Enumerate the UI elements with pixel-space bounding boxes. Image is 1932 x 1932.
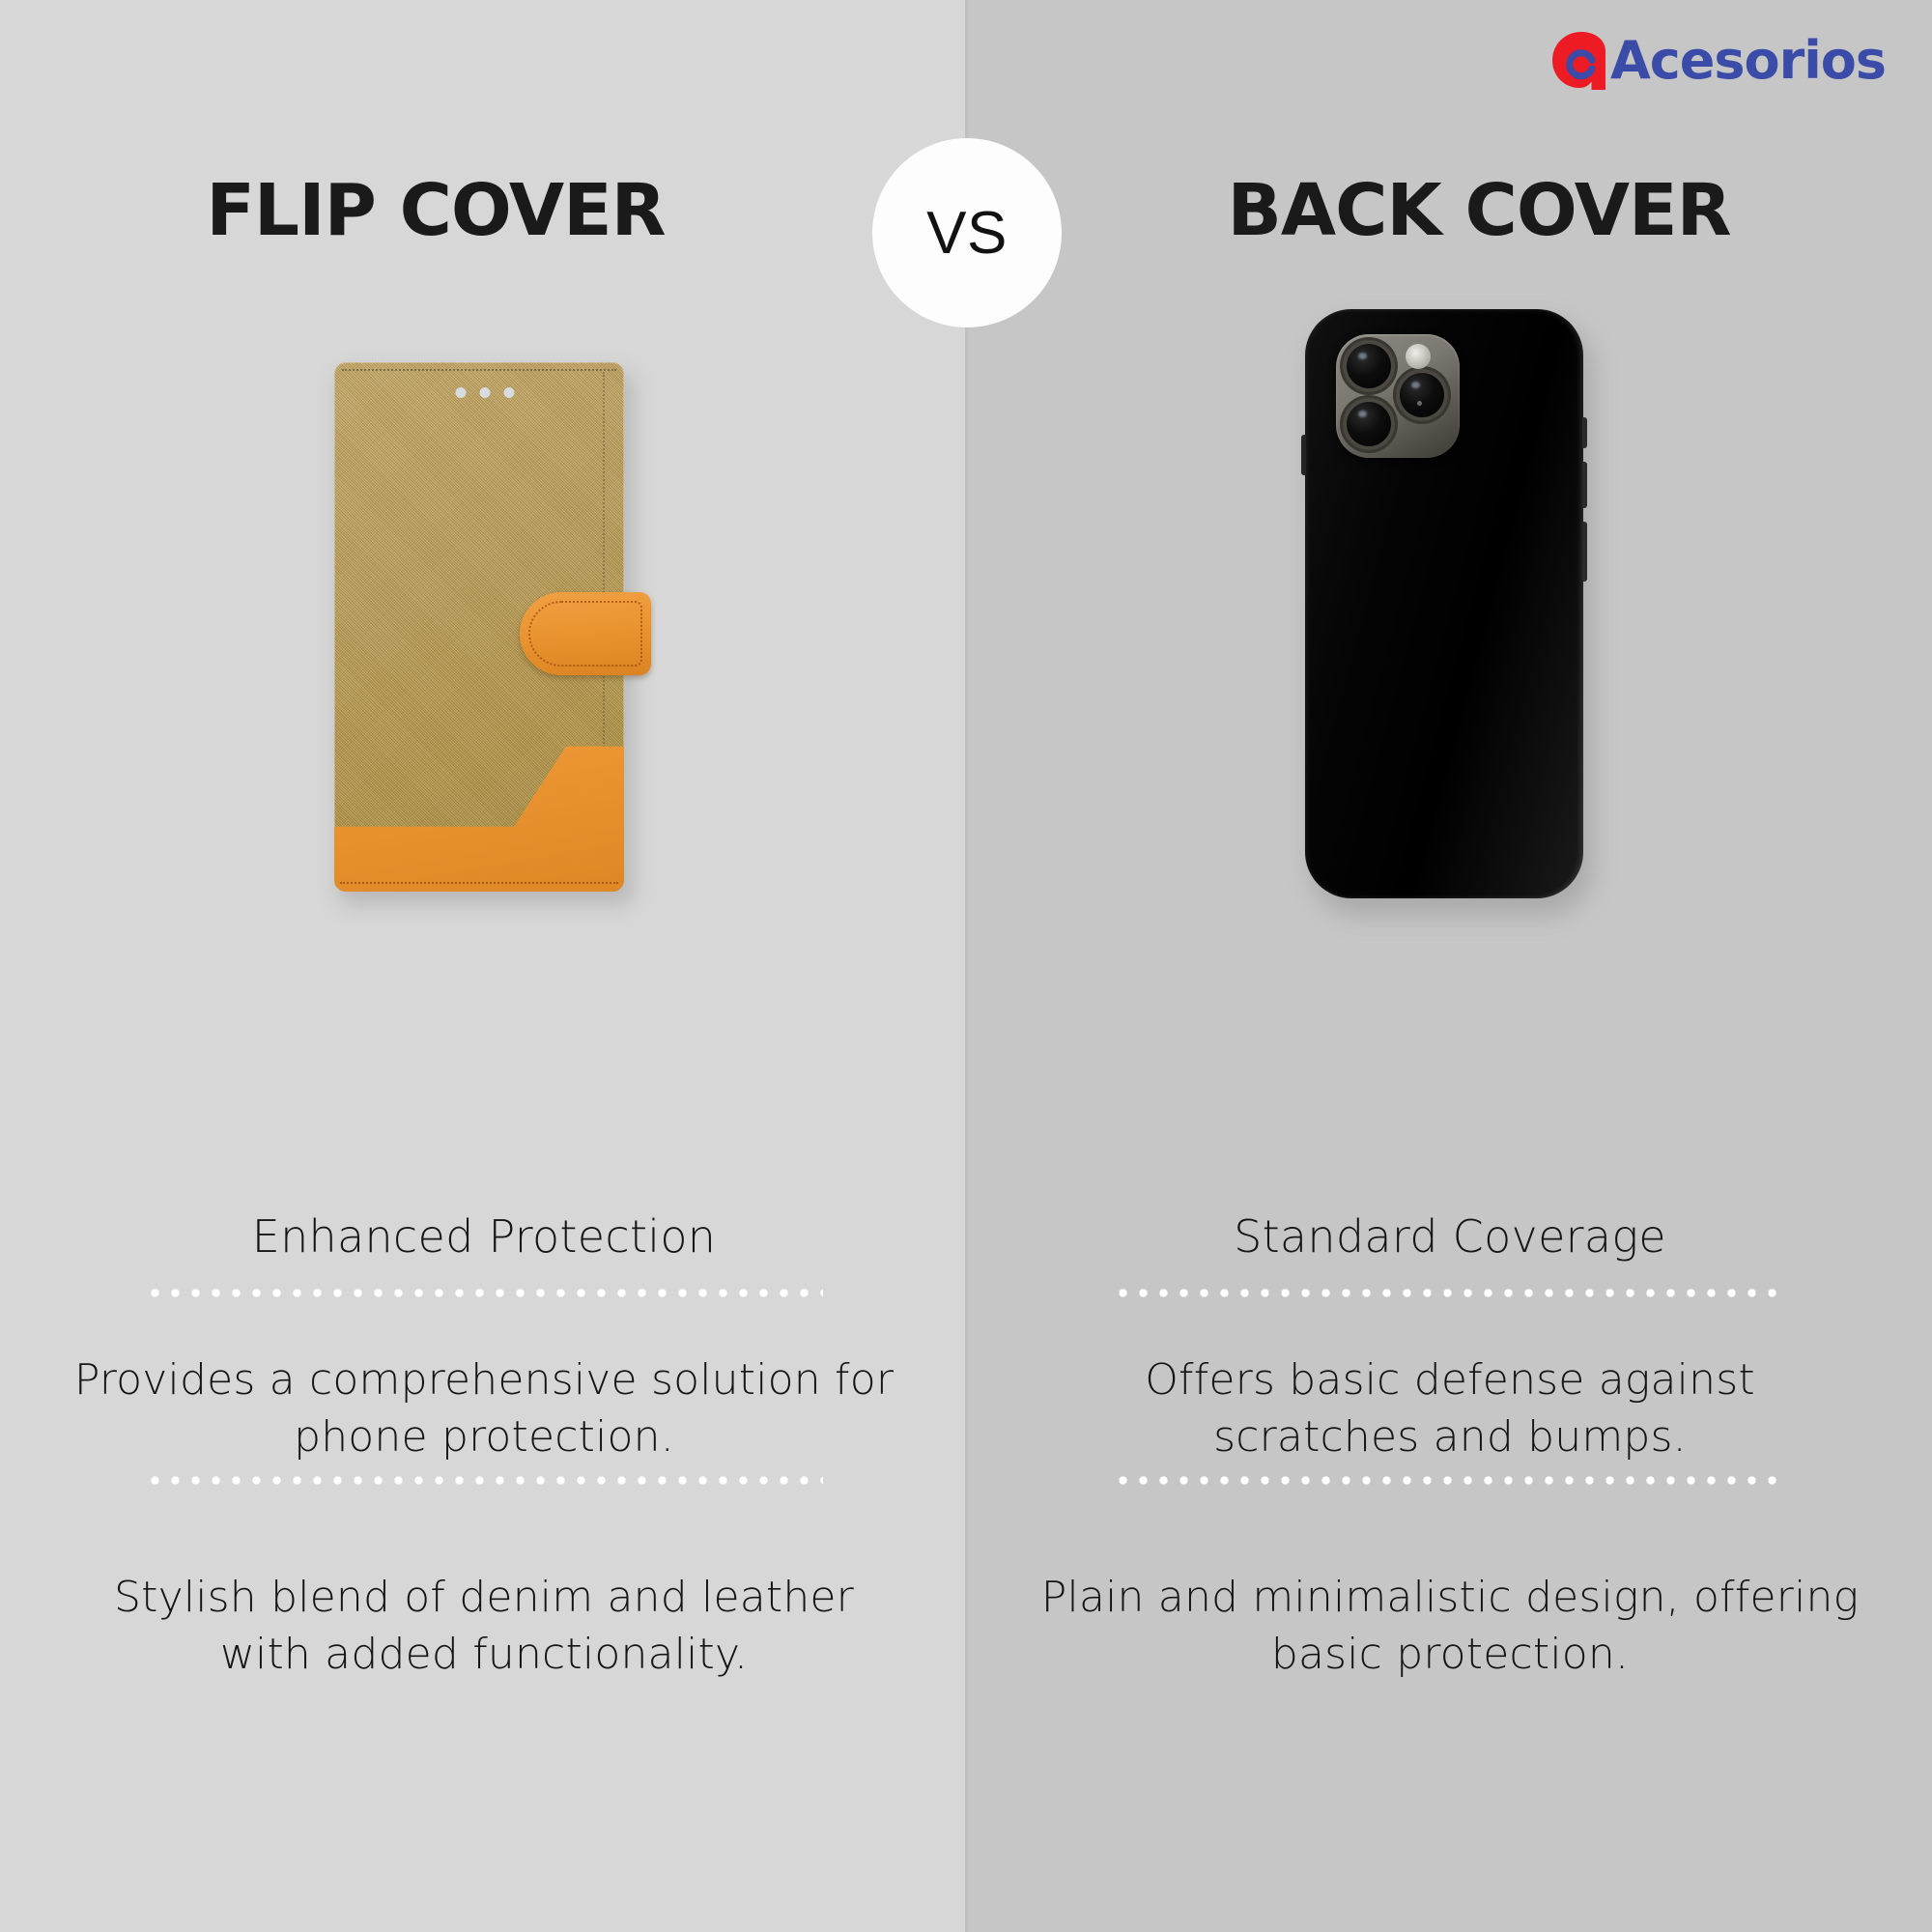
right-divider-1 <box>1113 1289 1787 1297</box>
back-cover-stage <box>968 367 1932 1082</box>
flip-cover-image <box>334 362 634 903</box>
comparison-infographic: Acesorios FLIP COVER BACK COVER VS <box>0 0 1932 1932</box>
right-divider-2 <box>1113 1476 1787 1485</box>
vs-label: VS <box>926 199 1008 268</box>
right-feature-1: Offers basic defense against scratches a… <box>1036 1352 1864 1465</box>
power-button-cutout <box>1582 522 1587 582</box>
mute-switch-cutout <box>1301 435 1306 475</box>
left-feature-2: Stylish blend of denim and leather with … <box>68 1570 900 1683</box>
back-cover-image <box>1305 309 1595 918</box>
volume-down-button-cutout <box>1582 462 1587 508</box>
left-divider-1 <box>145 1289 823 1297</box>
left-column: Enhanced Protection Provides a comprehen… <box>0 0 968 1932</box>
camera-lens-icon <box>1343 398 1395 450</box>
volume-up-button-cutout <box>1582 417 1587 448</box>
left-feature-1: Provides a comprehensive solution for ph… <box>68 1352 900 1465</box>
microphone-dot-icon <box>1417 401 1422 406</box>
flip-cover-speaker-dots <box>456 387 515 398</box>
left-feature-title: Enhanced Protection <box>0 1210 968 1263</box>
right-feature-title: Standard Coverage <box>968 1210 1932 1263</box>
dot-icon <box>504 387 515 398</box>
back-cover-body <box>1305 309 1583 898</box>
left-divider-2 <box>145 1476 823 1485</box>
camera-module <box>1336 334 1460 458</box>
flip-cover-top-stitch <box>342 369 616 371</box>
vs-badge: VS <box>872 138 1062 327</box>
camera-lens-icon <box>1396 369 1448 421</box>
camera-lens-icon <box>1343 340 1395 392</box>
camera-flash-icon <box>1406 344 1431 369</box>
right-column: Standard Coverage Offers basic defense a… <box>968 0 1932 1932</box>
flip-cover-stage <box>0 367 968 1082</box>
dot-icon <box>456 387 467 398</box>
right-feature-2: Plain and minimalistic design, offering … <box>1036 1570 1864 1683</box>
dot-icon <box>480 387 491 398</box>
flip-cover-magnetic-clasp <box>520 592 651 675</box>
flip-cover-leather-panel <box>334 737 624 892</box>
